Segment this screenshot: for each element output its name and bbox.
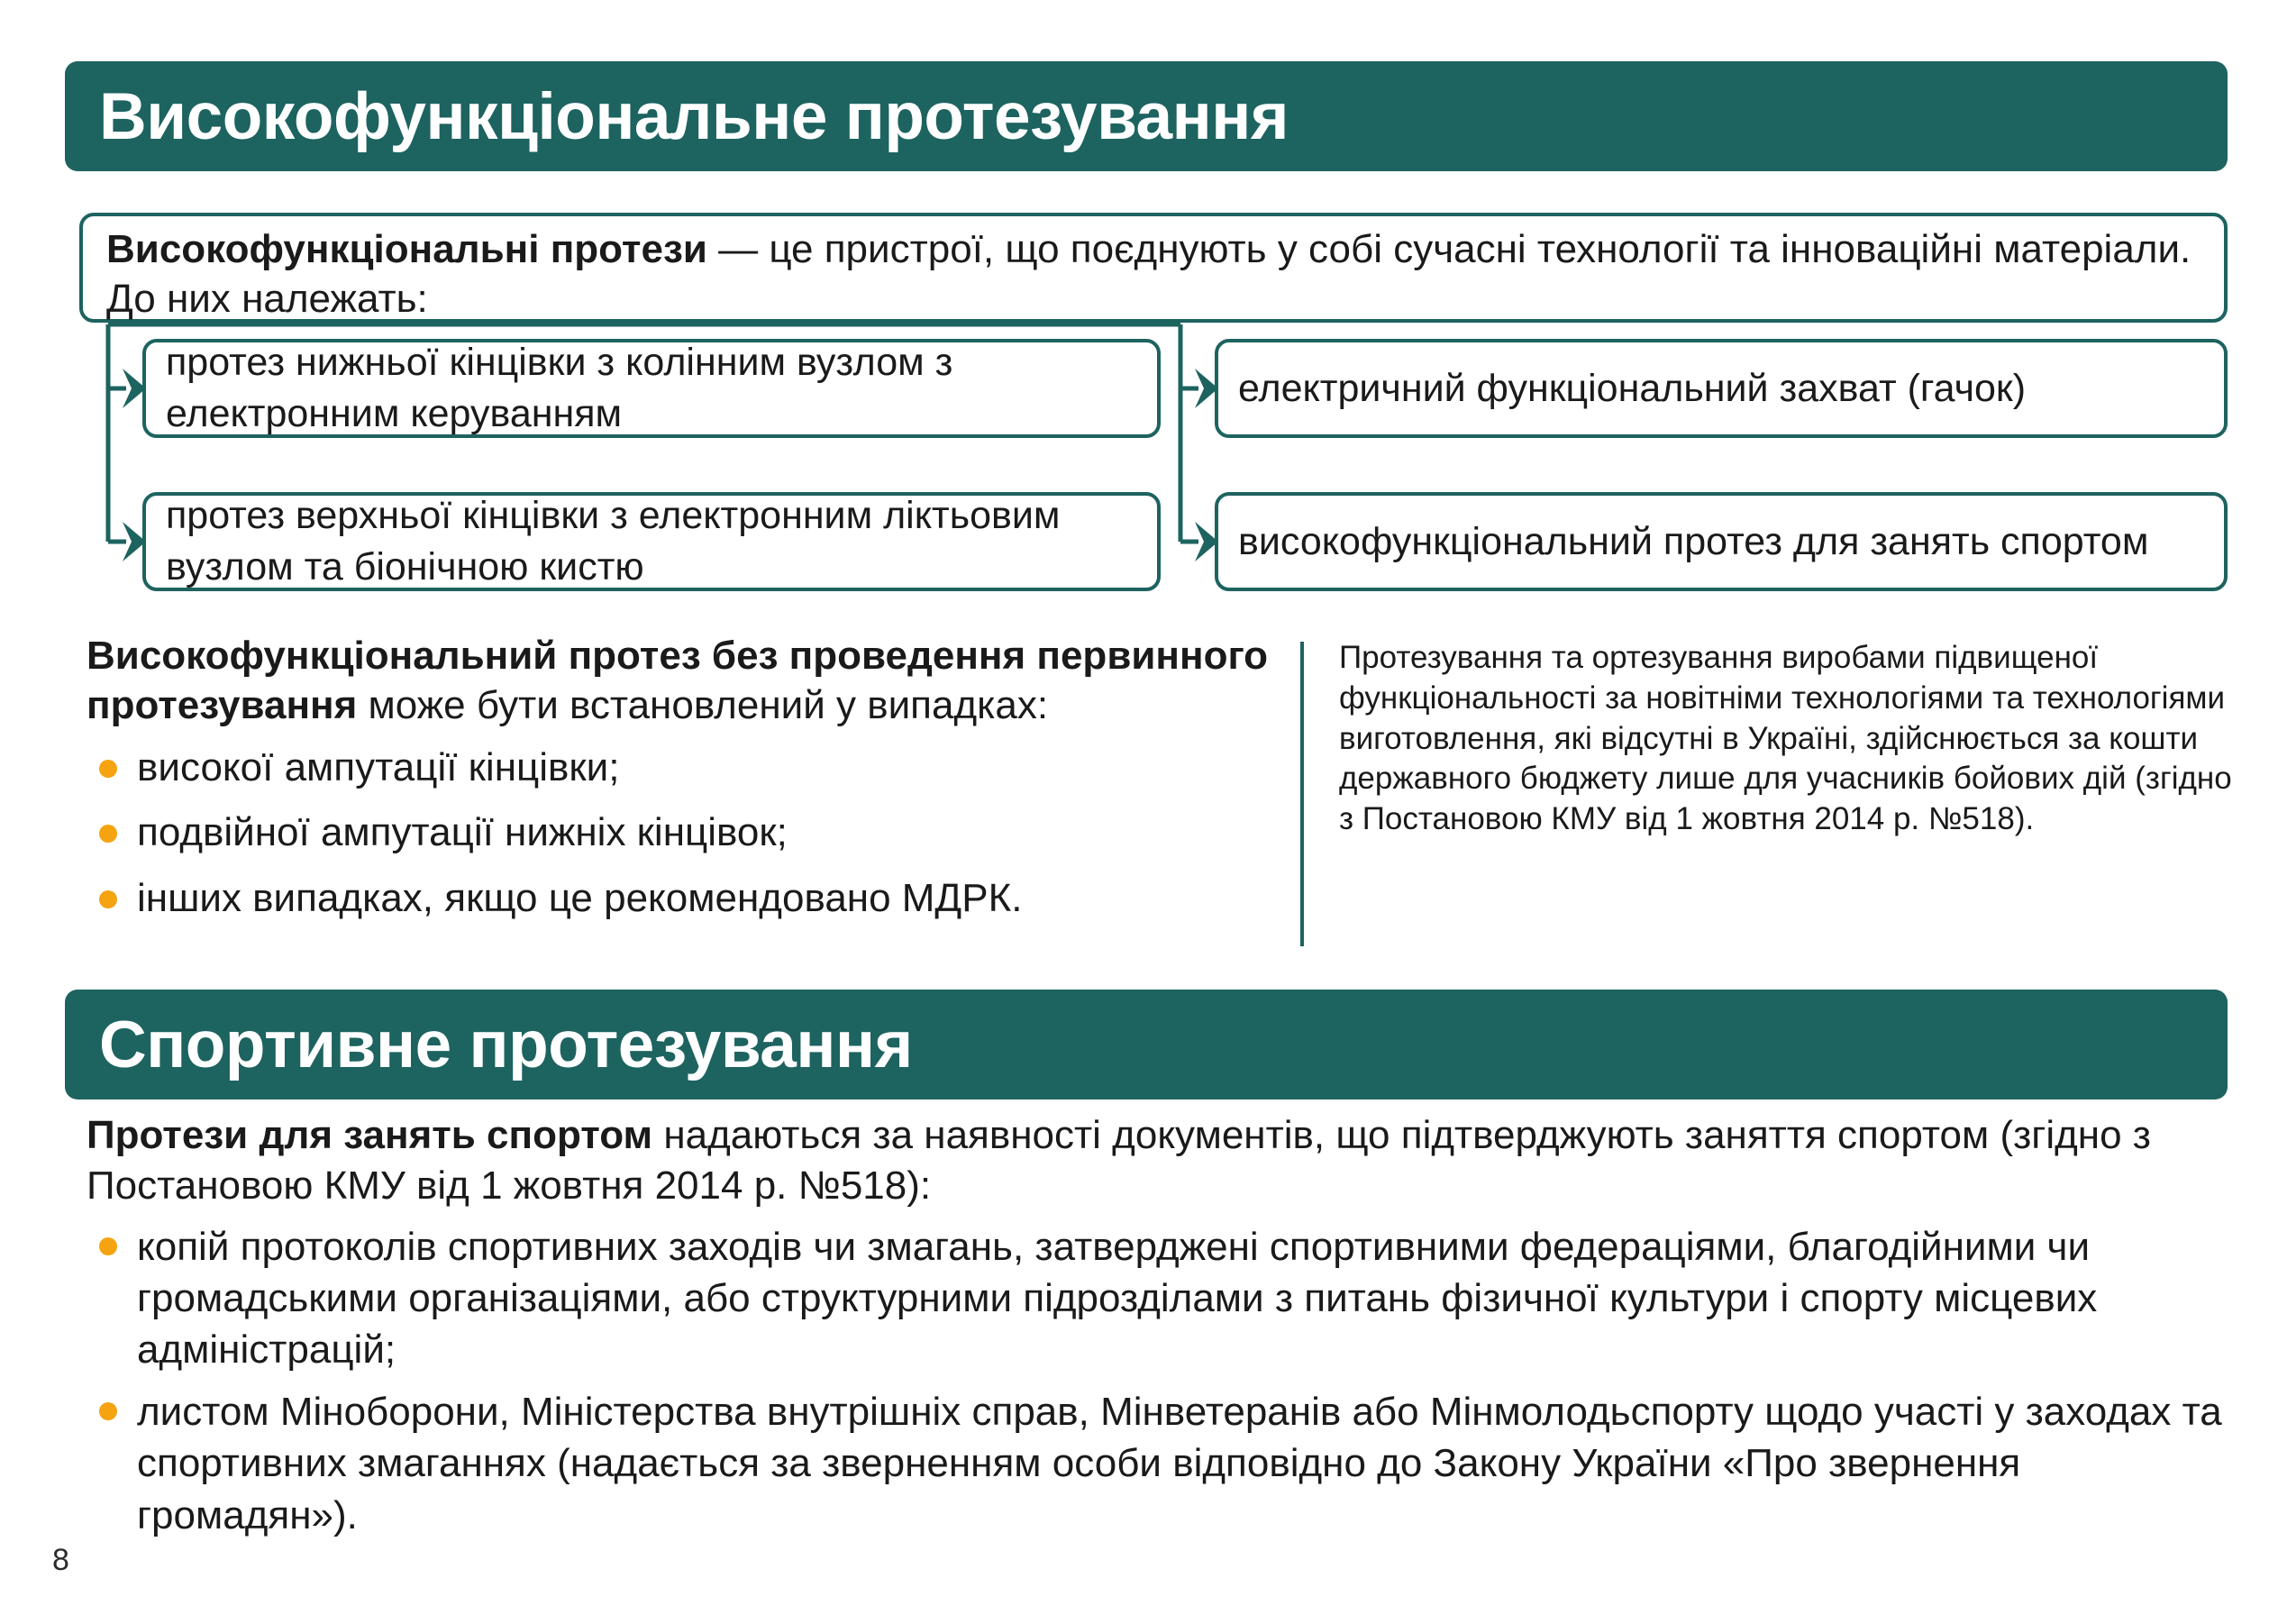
left-column-lead: Високофункціональний протез без проведен…	[87, 631, 1276, 731]
section-header-sport: Спортивне протезування	[65, 990, 2228, 1099]
item-box-sport-prosthesis-label: високофункціональний протез для занять с…	[1238, 516, 2148, 568]
sport-lead-bold: Протези для занять спортом	[87, 1113, 652, 1157]
section-header-high-function: Високофункціональне протезування	[65, 61, 2228, 171]
list-item: подвійної ампутації нижніх кінцівок;	[87, 808, 1276, 858]
intro-bold-lead: Високофункціональні протези	[106, 227, 707, 271]
left-column-bullet-list: високої ампутації кінцівки; подвійної ам…	[87, 744, 1276, 924]
item-box-sport-prosthesis: високофункціональний протез для занять с…	[1215, 492, 2228, 591]
item-box-lower-limb-knee-label: протез нижньої кінцівки з колінним вузло…	[166, 337, 1137, 440]
item-box-electric-hook: електричний функціональний захват (гачок…	[1215, 339, 2228, 438]
left-column-no-primary-prosthesis: Високофункціональний протез без проведен…	[87, 631, 1276, 940]
section-title-high-function: Високофункціональне протезування	[99, 79, 1289, 154]
funding-note-text: Протезування та ортезування виробами під…	[1339, 638, 2240, 840]
right-column-funding-note: Протезування та ортезування виробами під…	[1339, 638, 2240, 840]
sport-section-body: Протези для занять спортом надаються за …	[87, 1110, 2231, 1552]
column-divider	[1300, 642, 1304, 946]
intro-definition-box: Високофункціональні протези — це пристро…	[79, 213, 2228, 323]
sport-bullet-list: копій протоколів спортивних заходів чи з…	[87, 1221, 2231, 1541]
item-box-upper-limb-elbow-label: протез верхньої кінцівки з електронним л…	[166, 490, 1137, 593]
section-title-sport: Спортивне протезування	[99, 1008, 913, 1082]
intro-text: Високофункціональні протези — це пристро…	[106, 225, 2201, 324]
page-number: 8	[52, 1543, 69, 1578]
list-item: інших випадках, якщо це рекомендовано МД…	[87, 874, 1276, 924]
document-page: Високофункціональне протезування Високоф…	[0, 0, 2278, 1624]
item-box-electric-hook-label: електричний функціональний захват (гачок…	[1238, 363, 2026, 415]
list-item: листом Міноборони, Міністерства внутрішн…	[87, 1386, 2231, 1541]
list-item: копій протоколів спортивних заходів чи з…	[87, 1221, 2231, 1376]
list-item: високої ампутації кінцівки;	[87, 744, 1276, 793]
item-box-lower-limb-knee: протез нижньої кінцівки з колінним вузло…	[142, 339, 1161, 438]
sport-lead: Протези для занять спортом надаються за …	[87, 1110, 2231, 1212]
left-column-lead-rest: може бути встановлений у випадках:	[357, 683, 1048, 727]
item-box-upper-limb-elbow: протез верхньої кінцівки з електронним л…	[142, 492, 1161, 591]
